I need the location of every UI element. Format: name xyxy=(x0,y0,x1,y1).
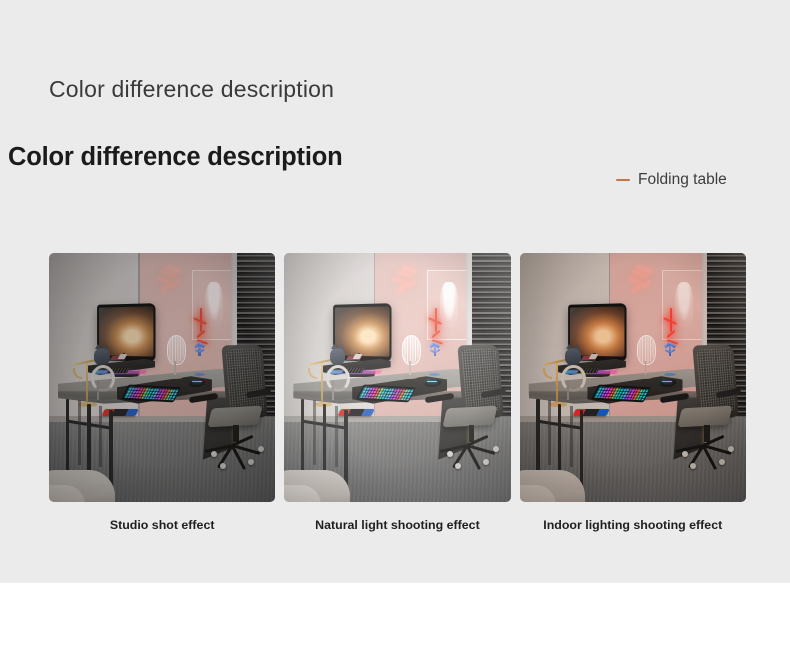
product-detail-page: Color difference description Color diffe… xyxy=(0,0,790,650)
product-tag: Folding table xyxy=(616,171,727,189)
caption-studio-shot: Studio shot effect xyxy=(49,517,275,565)
caption-indoor-lighting-shot: Indoor lighting shooting effect xyxy=(520,517,746,565)
gallery-photo-studio-shot[interactable] xyxy=(49,253,275,502)
caption-row: Studio shot effect Natural light shootin… xyxy=(49,517,746,565)
section-subtitle: Color difference description xyxy=(49,76,334,103)
photo-color-grade xyxy=(49,253,275,502)
gallery-photo-natural-light-shot[interactable] xyxy=(284,253,510,502)
caption-natural-light-shot: Natural light shooting effect xyxy=(284,517,510,565)
comparison-gallery xyxy=(49,253,746,502)
photo-color-grade xyxy=(284,253,510,502)
page-title: Color difference description xyxy=(8,143,342,172)
product-tag-label: Folding table xyxy=(638,171,727,189)
dash-icon xyxy=(616,179,630,182)
photo-color-grade xyxy=(520,253,746,502)
gallery-photo-indoor-lighting-shot[interactable] xyxy=(520,253,746,502)
